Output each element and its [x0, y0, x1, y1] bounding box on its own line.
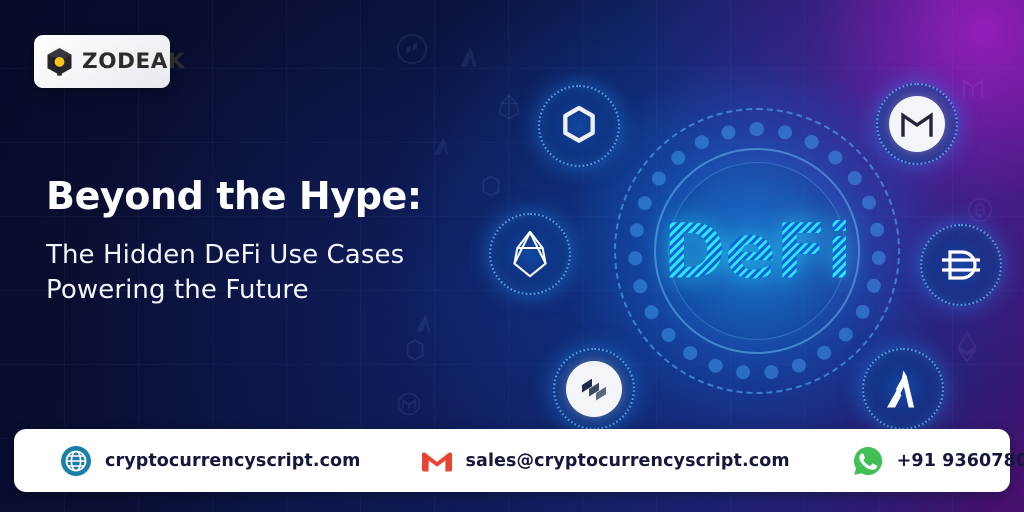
headline-block: Beyond the Hype: The Hidden DeFi Use Cas… [46, 176, 516, 307]
maker-icon [889, 96, 945, 152]
headline-title: Beyond the Hype: [46, 176, 516, 216]
footer-email[interactable]: sales@cryptocurrencyscript.com [421, 445, 790, 477]
watermark-algorand-icon [455, 42, 485, 72]
chainlink-icon [551, 98, 607, 154]
promo-banner: ZODEAK Beyond the Hype: The Hidden DeFi … [0, 0, 1024, 512]
email-text: sales@cryptocurrencyscript.com [466, 451, 790, 471]
eos-icon [502, 226, 558, 282]
compound-icon [566, 361, 622, 417]
gmail-icon [421, 445, 453, 477]
watermark-maker-icon [395, 390, 423, 418]
token-chainlink [538, 85, 620, 167]
watermark-algorand-icon-3 [412, 310, 438, 336]
headline-subtitle: The Hidden DeFi Use Cases Powering the F… [46, 238, 516, 307]
watermark-ethereum-icon [950, 330, 984, 364]
defi-label: DeFi [612, 207, 902, 296]
watermark-algorand-icon-2 [430, 133, 456, 159]
token-compound [553, 348, 635, 430]
token-eos [489, 213, 571, 295]
website-text: cryptocurrencyscript.com [105, 451, 361, 471]
zodeak-cube-icon [44, 46, 75, 77]
watermark-eos-icon [495, 93, 523, 121]
phone-text: +91 9360780106 [897, 451, 1024, 471]
zodeak-logo[interactable]: ZODEAK [34, 35, 170, 88]
watermark-compound-icon [395, 32, 429, 66]
headline-subtitle-line2: Powering the Future [46, 273, 516, 308]
token-dai [920, 224, 1002, 306]
globe-icon [60, 445, 92, 477]
algorand-icon [875, 361, 931, 417]
watermark-chainlink-icon-2 [402, 337, 428, 363]
contact-footer-bar: cryptocurrencyscript.com sales@cryptocur… [14, 429, 1010, 492]
whatsapp-icon [852, 445, 884, 477]
token-algorand [862, 348, 944, 430]
footer-phone[interactable]: +91 9360780106 [852, 445, 1024, 477]
watermark-maker-icon-2 [955, 70, 991, 106]
defi-hud-graphic: DeFi [612, 106, 902, 396]
token-maker [876, 83, 958, 165]
dai-icon [933, 237, 989, 293]
footer-website[interactable]: cryptocurrencyscript.com [60, 445, 361, 477]
watermark-bitcoin-icon [965, 195, 995, 225]
headline-subtitle-line1: The Hidden DeFi Use Cases [46, 238, 516, 273]
zodeak-logo-text: ZODEAK [82, 49, 185, 74]
